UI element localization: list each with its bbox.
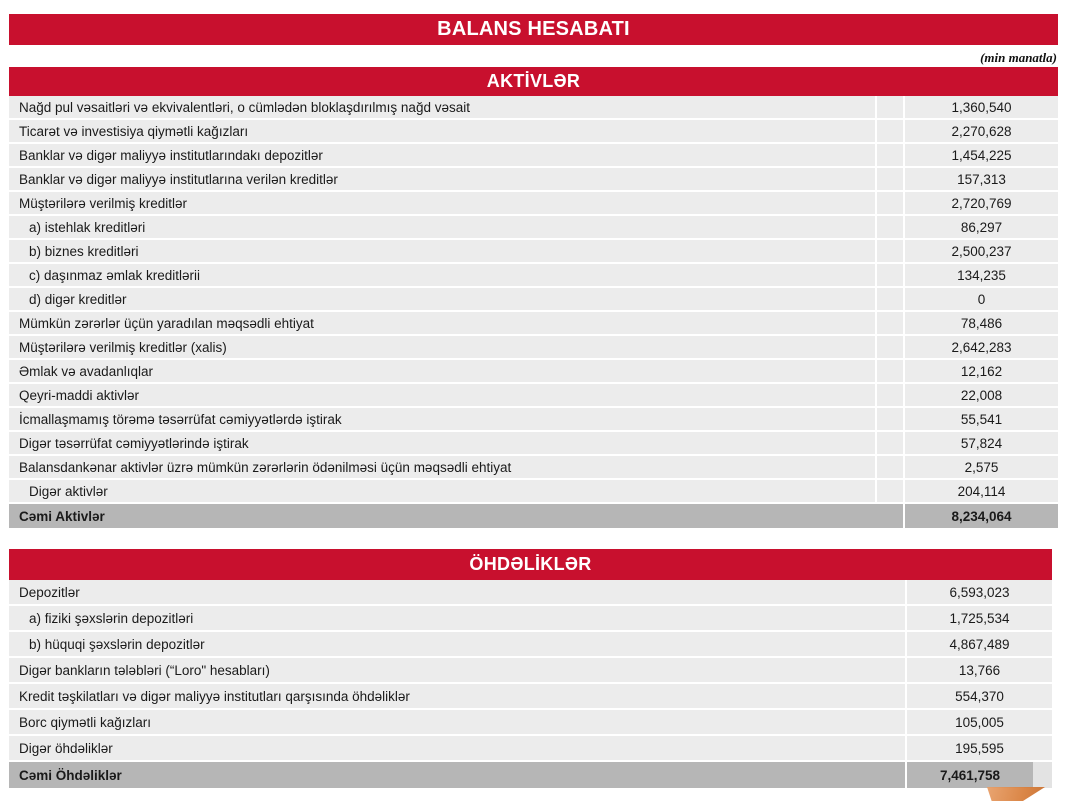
row-value: 4,867,489 [905, 632, 1052, 656]
assets-section-header: AKTİVLƏR [9, 67, 1058, 96]
row-value: 78,486 [903, 312, 1058, 334]
liabilities-section: ÖHDƏLİKLƏR Depozitlər6,593,023a) fiziki … [9, 549, 1052, 788]
row-value: 1,725,534 [905, 606, 1052, 630]
row-spacer [875, 504, 903, 528]
row-label: Borc qiymətli kağızları [9, 710, 905, 734]
row-label: Balansdankənar aktivlər üzrə mümkün zərə… [9, 456, 875, 478]
row-value: 2,720,769 [903, 192, 1058, 214]
decorative-corner-flare [987, 787, 1045, 801]
table-row: b) hüquqi şəxslərin depozitlər4,867,489 [9, 632, 1052, 658]
row-label: b) biznes kreditləri [9, 240, 875, 262]
table-row: Digər təsərrüfat cəmiyyətlərində iştirak… [9, 432, 1058, 456]
row-spacer [875, 408, 903, 430]
row-tail-cell [1033, 762, 1052, 788]
currency-unit-note: (min manatla) [980, 50, 1057, 66]
table-row-total: Cəmi Aktivlər8,234,064 [9, 504, 1058, 528]
row-value: 195,595 [905, 736, 1052, 760]
table-row-total: Cəmi Öhdəliklər7,461,758 [9, 762, 1052, 788]
row-spacer [875, 456, 903, 478]
row-label: Digər öhdəliklər [9, 736, 905, 760]
row-value: 1,360,540 [903, 96, 1058, 118]
row-label: d) digər kreditlər [9, 288, 875, 310]
row-spacer [875, 240, 903, 262]
row-label: Banklar və digər maliyyə institutlarında… [9, 144, 875, 166]
row-value: 134,235 [903, 264, 1058, 286]
row-value: 0 [903, 288, 1058, 310]
liabilities-section-header: ÖHDƏLİKLƏR [9, 549, 1052, 580]
row-label: a) fiziki şəxslərin depozitləri [9, 606, 905, 630]
row-spacer [875, 264, 903, 286]
row-value: 22,008 [903, 384, 1058, 406]
row-value: 12,162 [903, 360, 1058, 382]
row-spacer [875, 312, 903, 334]
row-spacer [875, 480, 903, 502]
table-row: Əmlak və avadanlıqlar12,162 [9, 360, 1058, 384]
row-spacer [875, 384, 903, 406]
row-label: Banklar və digər maliyyə institutlarına … [9, 168, 875, 190]
table-row: c) daşınmaz əmlak kreditlərii134,235 [9, 264, 1058, 288]
table-row: Balansdankənar aktivlər üzrə mümkün zərə… [9, 456, 1058, 480]
table-row: Banklar və digər maliyyə institutlarına … [9, 168, 1058, 192]
row-spacer [875, 96, 903, 118]
table-row: Banklar və digər maliyyə institutlarında… [9, 144, 1058, 168]
row-spacer [875, 216, 903, 238]
row-value: 2,500,237 [903, 240, 1058, 262]
assets-table-body: Nağd pul vəsaitləri və ekvivalentləri, o… [9, 96, 1058, 528]
table-row: d) digər kreditlər0 [9, 288, 1058, 312]
row-value: 8,234,064 [903, 504, 1058, 528]
liabilities-table-body: Depozitlər6,593,023a) fiziki şəxslərin d… [9, 580, 1052, 788]
row-spacer [875, 120, 903, 142]
row-label: b) hüquqi şəxslərin depozitlər [9, 632, 905, 656]
row-value: 157,313 [903, 168, 1058, 190]
row-value: 7,461,758 [905, 762, 1033, 788]
row-spacer [875, 168, 903, 190]
row-label: Qeyri-maddi aktivlər [9, 384, 875, 406]
row-spacer [875, 288, 903, 310]
row-value: 57,824 [903, 432, 1058, 454]
row-spacer [875, 432, 903, 454]
table-row: Digər bankların tələbləri (“Loro" hesabl… [9, 658, 1052, 684]
row-label: Müştərilərə verilmiş kreditlər (xalis) [9, 336, 875, 358]
row-value: 2,642,283 [903, 336, 1058, 358]
row-value: 13,766 [905, 658, 1052, 682]
row-label: Cəmi Öhdəliklər [9, 762, 905, 788]
row-label: İcmallaşmamış törəmə təsərrüfat cəmiyyət… [9, 408, 875, 430]
table-row: İcmallaşmamış törəmə təsərrüfat cəmiyyət… [9, 408, 1058, 432]
table-row: Kredit təşkilatları və digər maliyyə ins… [9, 684, 1052, 710]
table-row: Digər öhdəliklər195,595 [9, 736, 1052, 762]
row-label: Cəmi Aktivlər [9, 504, 875, 528]
table-row: Müştərilərə verilmiş kreditlər2,720,769 [9, 192, 1058, 216]
table-row: Depozitlər6,593,023 [9, 580, 1052, 606]
row-label: Kredit təşkilatları və digər maliyyə ins… [9, 684, 905, 708]
row-value: 554,370 [905, 684, 1052, 708]
row-value: 55,541 [903, 408, 1058, 430]
row-label: a) istehlak kreditləri [9, 216, 875, 238]
table-row: Nağd pul vəsaitləri və ekvivalentləri, o… [9, 96, 1058, 120]
row-label: Digər təsərrüfat cəmiyyətlərində iştirak [9, 432, 875, 454]
row-spacer [875, 192, 903, 214]
row-value: 6,593,023 [905, 580, 1052, 604]
row-label: Əmlak və avadanlıqlar [9, 360, 875, 382]
row-label: Digər aktivlər [9, 480, 875, 502]
table-row: a) fiziki şəxslərin depozitləri1,725,534 [9, 606, 1052, 632]
table-row: Borc qiymətli kağızları105,005 [9, 710, 1052, 736]
row-label: Depozitlər [9, 580, 905, 604]
table-row: Ticarət və investisiya qiymətli kağızlar… [9, 120, 1058, 144]
table-row: Qeyri-maddi aktivlər22,008 [9, 384, 1058, 408]
table-row: Digər aktivlər204,114 [9, 480, 1058, 504]
row-value: 204,114 [903, 480, 1058, 502]
row-spacer [875, 144, 903, 166]
assets-section: AKTİVLƏR Nağd pul vəsaitləri və ekvivale… [9, 67, 1058, 528]
row-label: Digər bankların tələbləri (“Loro" hesabl… [9, 658, 905, 682]
row-label: Nağd pul vəsaitləri və ekvivalentləri, o… [9, 96, 875, 118]
row-label: Mümkün zərərlər üçün yaradılan məqsədli … [9, 312, 875, 334]
row-label: Müştərilərə verilmiş kreditlər [9, 192, 875, 214]
page-title: BALANS HESABATI [9, 14, 1058, 45]
table-row: b) biznes kreditləri2,500,237 [9, 240, 1058, 264]
row-value: 1,454,225 [903, 144, 1058, 166]
balance-sheet-page: BALANS HESABATI (min manatla) AKTİVLƏR N… [0, 0, 1067, 795]
row-value: 86,297 [903, 216, 1058, 238]
row-label: Ticarət və investisiya qiymətli kağızlar… [9, 120, 875, 142]
row-label: c) daşınmaz əmlak kreditlərii [9, 264, 875, 286]
row-value: 105,005 [905, 710, 1052, 734]
row-value: 2,270,628 [903, 120, 1058, 142]
row-spacer [875, 336, 903, 358]
table-row: Müştərilərə verilmiş kreditlər (xalis)2,… [9, 336, 1058, 360]
table-row: a) istehlak kreditləri86,297 [9, 216, 1058, 240]
row-spacer [875, 360, 903, 382]
table-row: Mümkün zərərlər üçün yaradılan məqsədli … [9, 312, 1058, 336]
row-value: 2,575 [903, 456, 1058, 478]
